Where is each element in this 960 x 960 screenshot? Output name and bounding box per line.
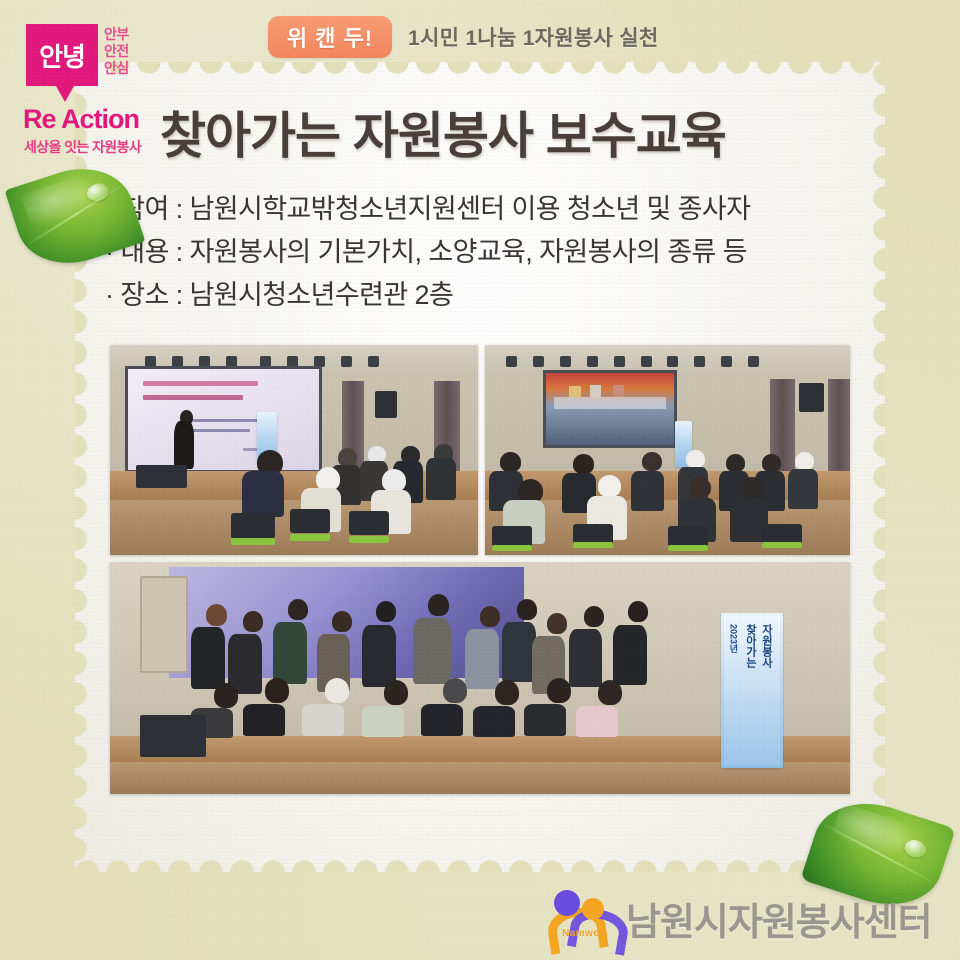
- detail-line-location: · 장소 : 남원시청소년수련관 2층: [105, 274, 750, 317]
- logo-subtext: Namwon: [562, 928, 607, 939]
- brand-keywords: 안부 안전 안심: [104, 26, 129, 77]
- campaign-slogan: 1시민 1나눔 1자원봉사 실천: [408, 22, 659, 52]
- brand-wordmark: Re Action: [23, 104, 139, 135]
- stage-monitor: [136, 465, 188, 488]
- brand-tagline: 세상을 잇는 자원봉사: [24, 137, 141, 157]
- photo-gallery: 2023년 찾아가는 자원봉사: [110, 345, 850, 794]
- wall-speaker-2: [799, 383, 825, 412]
- banner-line-1: 찾아가는: [744, 624, 756, 668]
- page-title: 찾아가는 자원봉사 보수교육: [160, 96, 726, 168]
- promo-card: 위 캔 두! 1시민 1나눔 1자원봉사 실천 안녕 안부 안전 안심 Re A…: [0, 0, 960, 960]
- center-logo-icon: Namwon: [548, 888, 614, 944]
- event-banner: 2023년 찾아가는 자원봉사: [721, 613, 783, 768]
- banner-year: 2023년: [728, 624, 738, 653]
- campaign-badge: 위 캔 두!: [268, 16, 392, 58]
- photo-lecture-presenter: [110, 345, 478, 555]
- ceiling-lights: [125, 356, 464, 367]
- floor-speaker: [140, 715, 207, 757]
- detail-line-content: · 내용 : 자원봉사의 기본가치, 소양교육, 자원봉사의 종류 등: [105, 231, 750, 274]
- photo-group: 2023년 찾아가는 자원봉사: [110, 562, 850, 794]
- organization-name: 남원시자원봉사센터: [626, 891, 932, 946]
- banner-line-2: 자원봉사: [760, 624, 772, 668]
- brand-logo: 안녕 안부 안전 안심 Re Action 세상을 잇는 자원봉사: [18, 20, 168, 160]
- keyword-line-3: 안심: [104, 60, 129, 77]
- wall-speaker: [375, 391, 397, 418]
- keyword-line-1: 안부: [104, 26, 129, 43]
- door: [140, 576, 188, 673]
- ceiling-lights-2: [500, 356, 836, 367]
- photo-audience-video: [485, 345, 850, 555]
- speech-bubble-icon: 안녕: [26, 24, 98, 86]
- dewdrop-icon-right: [902, 837, 928, 860]
- projection-screen: [125, 366, 322, 473]
- detail-list: · 참여 : 남원시학교밖청소년지원센터 이용 청소년 및 종사자 · 내용 :…: [105, 188, 750, 317]
- projection-screen-2: [543, 370, 677, 447]
- footer: Namwon 남원시자원봉사센터: [0, 872, 960, 960]
- detail-line-participants: · 참여 : 남원시학교밖청소년지원센터 이용 청소년 및 종사자: [105, 188, 750, 231]
- bubble-text: 안녕: [39, 37, 85, 74]
- keyword-line-2: 안전: [104, 43, 129, 60]
